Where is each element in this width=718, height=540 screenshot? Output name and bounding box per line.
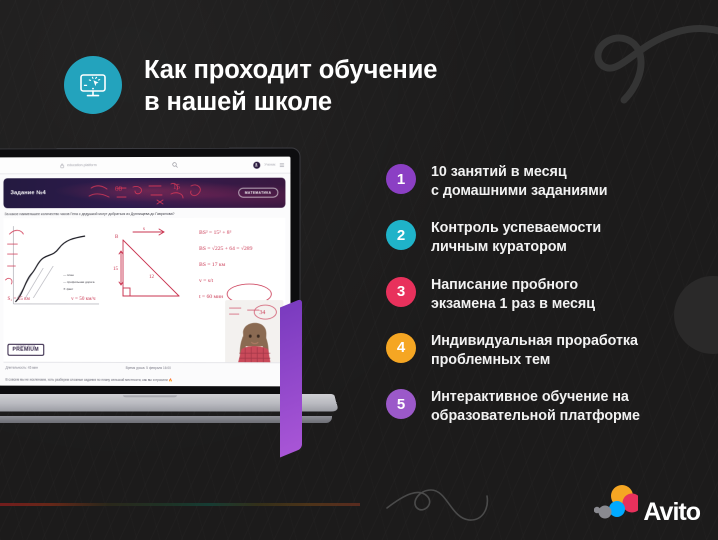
address-bar-text: education.platform bbox=[67, 163, 97, 167]
premium-badge-title: PREMIUM bbox=[12, 348, 38, 354]
svg-text:v = 50 км/ч: v = 50 км/ч bbox=[71, 296, 96, 302]
address-bar[interactable]: education.platform bbox=[60, 163, 97, 168]
laptop-base-notch bbox=[123, 395, 177, 397]
list-item: 2 Контроль успеваемости личным куратором bbox=[386, 219, 686, 257]
list-item: 3 Написание пробного экзамена 1 раз в ме… bbox=[386, 276, 686, 314]
whiteboard-canvas[interactable]: — план — профильная дорога ✕ факт bbox=[3, 218, 285, 363]
svg-text:t = 60 мин: t = 60 мин bbox=[199, 294, 223, 300]
benefit-number-badge: 5 bbox=[386, 389, 416, 419]
benefit-number-badge: 1 bbox=[386, 164, 416, 194]
svg-text:15: 15 bbox=[173, 183, 181, 191]
benefits-list: 1 10 занятий в месяц с домашними задания… bbox=[386, 163, 686, 427]
avito-logo: Avito bbox=[594, 484, 700, 524]
list-item: 5 Интерактивное обучение на образователь… bbox=[386, 388, 686, 426]
task-question: За какое наименьшее количество часов Ген… bbox=[0, 208, 290, 218]
laptop-screen: education.platform Ученик bbox=[0, 157, 290, 387]
lesson-duration: Длительность: 45 мин bbox=[5, 366, 37, 370]
toolbar-right: Ученик bbox=[253, 161, 284, 168]
premium-badge: ОНЛАЙН-ШКОЛА PREMIUM bbox=[7, 343, 43, 356]
avito-dots-icon bbox=[594, 484, 638, 524]
svg-text:— план: — план bbox=[63, 273, 74, 277]
svg-text:S₁ = 15 км: S₁ = 15 км bbox=[7, 296, 30, 302]
benefit-number-badge: 2 bbox=[386, 220, 416, 250]
laptop-lid: education.platform Ученик bbox=[0, 148, 301, 397]
page-title: Как проходит обучение в нашей школе bbox=[144, 52, 437, 118]
list-item: 4 Индивидуальная проработка проблемных т… bbox=[386, 332, 686, 370]
laptop-purple-accent bbox=[280, 299, 302, 458]
avatar[interactable] bbox=[253, 161, 260, 168]
page-header: Как проходит обучение в нашей школе bbox=[64, 52, 437, 118]
svg-text:— профильная дорога: — профильная дорога bbox=[63, 280, 95, 284]
svg-text:BS = √225 + 64 = √289: BS = √225 + 64 = √289 bbox=[199, 245, 253, 252]
avito-wordmark: Avito bbox=[643, 501, 700, 524]
benefit-text: Написание пробного экзамена 1 раз в меся… bbox=[431, 276, 595, 314]
search-icon[interactable] bbox=[172, 162, 178, 168]
color-gradient-strip bbox=[0, 503, 360, 506]
lesson-meta-row: Длительность: 45 мин Время урока: 5 февр… bbox=[3, 362, 285, 374]
lesson-note: В совсем мы не исключаем, хоть разберем … bbox=[3, 373, 285, 386]
user-label: Ученик bbox=[264, 163, 275, 167]
benefit-text: 10 занятий в месяц с домашними заданиями bbox=[431, 163, 608, 201]
subject-badge: МАТЕМАТИКА bbox=[238, 188, 279, 198]
svg-text:60: 60 bbox=[115, 185, 122, 193]
svg-text:B: B bbox=[115, 235, 119, 240]
svg-text:BS = 17 км: BS = 17 км bbox=[199, 262, 226, 268]
toolbar-spacer bbox=[103, 162, 247, 168]
header-badge bbox=[64, 56, 122, 114]
menu-icon[interactable] bbox=[279, 162, 284, 167]
decorative-wave-swirl-icon bbox=[385, 478, 525, 526]
student-avatar-photo: 34 bbox=[225, 300, 283, 362]
benefit-number-badge: 3 bbox=[386, 277, 416, 307]
handwritten-math-overlay-icon: 60 15 bbox=[87, 180, 207, 206]
benefit-number-badge: 4 bbox=[386, 333, 416, 363]
whiteboard-drawing: — план — профильная дорога ✕ факт bbox=[3, 218, 285, 310]
lesson-time: Время урока: 5 февраля 16:00 bbox=[126, 366, 171, 370]
svg-text:s: s bbox=[143, 227, 145, 232]
svg-text:v = s/t: v = s/t bbox=[199, 278, 214, 284]
student-video-thumbnail[interactable]: 34 bbox=[225, 300, 283, 362]
svg-text:12: 12 bbox=[149, 275, 155, 280]
benefit-text: Индивидуальная проработка проблемных тем bbox=[431, 332, 638, 370]
lesson-title: Задание №4 bbox=[10, 190, 45, 196]
list-item: 1 10 занятий в месяц с домашними задания… bbox=[386, 163, 686, 201]
benefit-text: Интерактивное обучение на образовательно… bbox=[431, 388, 640, 426]
desktop-monitor-cursor-icon bbox=[76, 68, 110, 102]
browser-toolbar: education.platform Ученик bbox=[0, 157, 290, 175]
svg-text:15: 15 bbox=[113, 267, 118, 272]
lock-icon bbox=[60, 163, 64, 168]
lesson-header-card: 60 15 Задание №4 МАТЕМАТИКА bbox=[3, 178, 285, 209]
decorative-loop-swirl-icon bbox=[578, 0, 718, 112]
svg-text:BS² = 15² + 8²: BS² = 15² + 8² bbox=[199, 230, 232, 236]
avatar-icon bbox=[255, 163, 259, 167]
svg-text:✕ факт: ✕ факт bbox=[63, 287, 74, 291]
benefit-text: Контроль успеваемости личным куратором bbox=[431, 219, 601, 257]
svg-text:34: 34 bbox=[259, 310, 265, 316]
